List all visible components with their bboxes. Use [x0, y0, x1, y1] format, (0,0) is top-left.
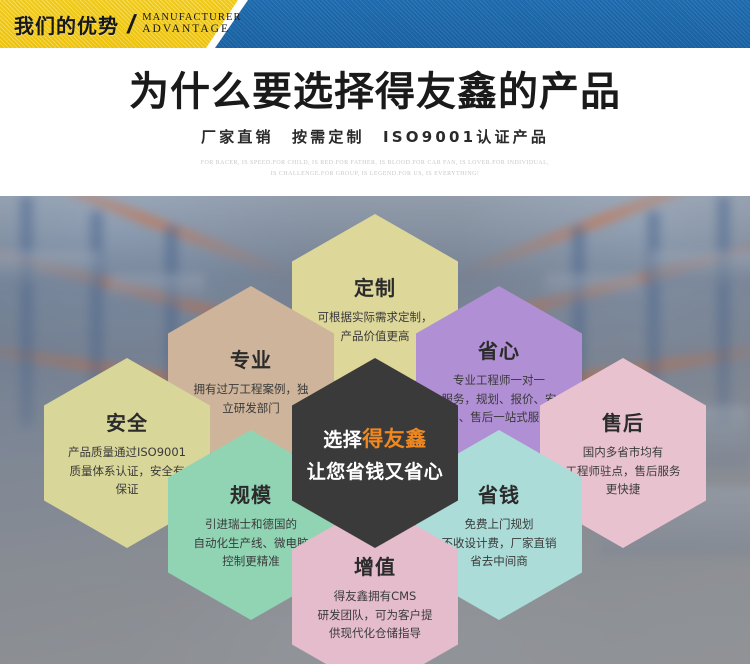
- hex-desc-line: 服务，规划、报价、安: [442, 390, 557, 409]
- hex-desc-line: 引进瑞士和德国的: [194, 515, 309, 534]
- hex-title: 规模: [230, 479, 272, 508]
- hex-desc: 专业工程师一对一 服务，规划、报价、安 装、售后一站式服务: [442, 371, 557, 427]
- hex-desc-line: 不收设计费，厂家直销: [442, 534, 557, 553]
- page-subtitle: 厂家直销 按需定制 ISO9001认证产品: [0, 126, 750, 147]
- hex-desc: 引进瑞士和德国的 自动化生产线、微电脑 控制更精准: [194, 515, 309, 571]
- hex-stage: 定制 可根据实际需求定制， 产品价值更高 专业 拥有过万工程案例，独 立研发部门…: [0, 196, 750, 664]
- hex-desc-line: 国内多省市均有: [566, 443, 681, 462]
- hex-desc: 国内多省市均有 工程师驻点，售后服务 更快捷: [566, 443, 681, 499]
- hex-desc: 免费上门规划 不收设计费，厂家直销 省去中间商: [442, 515, 557, 571]
- hex-desc: 拥有过万工程案例，独 立研发部门: [194, 380, 309, 417]
- hex-title: 增值: [354, 551, 396, 580]
- hex-desc-line: 得友鑫拥有CMS: [318, 587, 433, 606]
- advantage-banner: 我们的优势 / MANUFACTURER ADVANTAGE 为什么要选择得友鑫…: [0, 0, 750, 664]
- hex-title: 安全: [106, 407, 148, 436]
- ribbon-en-line2: ADVANTAGE: [142, 23, 241, 36]
- page-title: 为什么要选择得友鑫的产品: [0, 71, 750, 113]
- center-brand-name: 得友鑫: [362, 427, 427, 451]
- ribbon-cn-label: 我们的优势: [14, 10, 119, 39]
- hex-desc-line: 省去中间商: [442, 552, 557, 571]
- tagline: FOR RACER, IS SPEED.FOR CHILD, IS RED.FO…: [0, 158, 750, 179]
- hex-desc-line: 产品价值更高: [318, 327, 433, 346]
- top-ribbon: 我们的优势 / MANUFACTURER ADVANTAGE: [0, 0, 750, 48]
- tagline-line1: FOR RACER, IS SPEED.FOR CHILD, IS RED.FO…: [0, 158, 750, 169]
- hex-desc-line: 装、售后一站式服务: [442, 408, 557, 427]
- hex-desc-line: 更快捷: [566, 480, 681, 499]
- hex-desc-line: 供现代化仓储指导: [318, 624, 433, 643]
- tagline-line2: IS CHALLENGE.FOR GROUP, IS LEGEND.FOR US…: [0, 169, 750, 180]
- ribbon-en-label: MANUFACTURER ADVANTAGE: [142, 12, 241, 37]
- ribbon-content: 我们的优势 / MANUFACTURER ADVANTAGE: [0, 0, 260, 48]
- hex-desc-line: 立研发部门: [194, 399, 309, 418]
- headline-block: 为什么要选择得友鑫的产品 厂家直销 按需定制 ISO9001认证产品 FOR R…: [0, 48, 750, 196]
- center-line1: 选择得友鑫: [323, 423, 427, 453]
- hex-desc-line: 控制更精准: [194, 552, 309, 571]
- hex-title: 省钱: [478, 479, 520, 508]
- hex-desc-line: 可根据实际需求定制，: [318, 308, 433, 327]
- center-line1-prefix: 选择: [323, 429, 362, 451]
- hex-desc: 可根据实际需求定制， 产品价值更高: [318, 308, 433, 345]
- ribbon-en-line1: MANUFACTURER: [142, 12, 241, 24]
- hex-title: 专业: [230, 344, 272, 373]
- hex-title: 省心: [478, 335, 520, 364]
- hex-desc-line: 专业工程师一对一: [442, 371, 557, 390]
- hex-desc-line: 拥有过万工程案例，独: [194, 380, 309, 399]
- hex-desc-line: 自动化生产线、微电脑: [194, 534, 309, 553]
- center-line2: 让您省钱又省心: [307, 457, 444, 484]
- hex-desc-line: 工程师驻点，售后服务: [566, 462, 681, 481]
- hex-title: 售后: [602, 407, 644, 436]
- hex-desc-line: 研发团队，可为客户提: [318, 606, 433, 625]
- hex-desc-line: 免费上门规划: [442, 515, 557, 534]
- ribbon-divider-icon: /: [125, 11, 138, 37]
- hex-title: 定制: [354, 272, 396, 301]
- hex-desc-line: 产品质量通过ISO9001: [68, 443, 186, 462]
- hex-desc: 得友鑫拥有CMS 研发团队，可为客户提 供现代化仓储指导: [318, 587, 433, 643]
